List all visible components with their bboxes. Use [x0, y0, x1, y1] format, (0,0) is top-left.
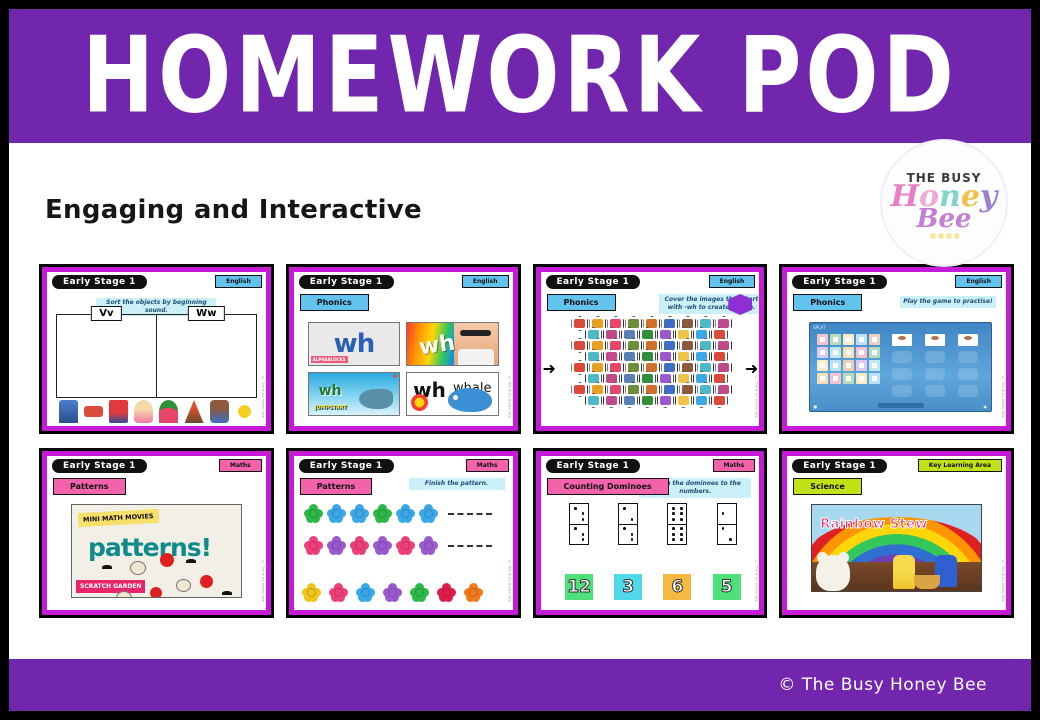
- domino-dot: [631, 518, 634, 521]
- domino-half: [570, 504, 588, 524]
- domino-dot: [672, 518, 675, 521]
- patterns-video-thumbnail[interactable]: MINI MATH MOVIES patterns! SCRATCH GARDE…: [71, 504, 242, 598]
- game-image-card[interactable]: [830, 373, 841, 384]
- slide-content-5: Early Stage 1 Maths Patterns MINI MATH M…: [47, 456, 266, 610]
- video-title: patterns!: [88, 533, 211, 562]
- slide-content-1: Early Stage 1 English Sort the objects b…: [47, 272, 266, 426]
- pattern-flower[interactable]: [419, 504, 438, 523]
- whale-icon: [448, 388, 492, 412]
- domino-cell: [631, 533, 634, 536]
- stage-badge: Early Stage 1: [299, 459, 394, 473]
- side-credit: © The Busy Honey Bee: [754, 560, 758, 602]
- game-image-card[interactable]: [856, 347, 867, 358]
- flower-palette-row[interactable]: [302, 583, 483, 602]
- palette-flower[interactable]: [356, 583, 375, 602]
- domino-dot: [672, 507, 675, 510]
- video-brand-tag: ALPHABLOCKS: [311, 356, 348, 363]
- game-image-card[interactable]: [830, 347, 841, 358]
- game-progress-bar[interactable]: [878, 403, 924, 408]
- game-empty-slot[interactable]: [925, 351, 945, 363]
- flower-centre: [309, 509, 318, 518]
- slide-thumbnail-7[interactable]: Early Stage 1 Maths Counting Dominoes Ma…: [533, 448, 768, 618]
- game-empty-slot[interactable]: [925, 385, 945, 397]
- domino-cell: [574, 527, 577, 530]
- honeycomb-icon: [929, 232, 959, 240]
- domino-half: [619, 504, 637, 524]
- slide-content-2: Early Stage 1 English Phonics wh ALPHABL…: [294, 272, 513, 426]
- game-image-card[interactable]: [856, 334, 867, 345]
- game-image-card[interactable]: [830, 360, 841, 371]
- page-title: HOMEWORK POD: [82, 24, 958, 129]
- domino-cell: [672, 527, 675, 530]
- game-image-card[interactable]: [843, 373, 854, 384]
- game-empty-slot[interactable]: [892, 385, 912, 397]
- palette-flower[interactable]: [302, 583, 321, 602]
- video-thumbnail-1[interactable]: wh ALPHABLOCKS: [308, 322, 400, 366]
- video-label-wh: wh: [334, 329, 375, 359]
- topic-tag-phonics: Phonics: [793, 294, 862, 311]
- doodle-moustache-icon: [186, 559, 196, 563]
- stage-badge: Early Stage 1: [546, 275, 641, 289]
- game-image-card[interactable]: [856, 360, 867, 371]
- palette-flower[interactable]: [410, 583, 429, 602]
- domino-half: [570, 524, 588, 545]
- doodle-moustache-icon: [102, 565, 112, 569]
- slide-thumbnail-5[interactable]: Early Stage 1 Maths Patterns MINI MATH M…: [39, 448, 274, 618]
- domino-dot: [680, 527, 683, 530]
- flower-centre: [415, 588, 424, 597]
- domino-dot: [582, 512, 585, 515]
- object-wand-icon[interactable]: [235, 400, 254, 423]
- domino-cell: [672, 518, 675, 521]
- pattern-answer-blank[interactable]: [448, 512, 492, 515]
- domino-half: [619, 524, 637, 545]
- brand-logo: THE BUSY Honey Bee: [882, 141, 1006, 265]
- domino-cell: [582, 533, 585, 536]
- domino-cell: [631, 538, 634, 541]
- domino-cell: [680, 538, 683, 541]
- domino-cell: [722, 512, 725, 515]
- doodle-sheep-icon: [130, 561, 146, 575]
- doodle-face-icon: [160, 553, 174, 567]
- kla-tag: English: [709, 275, 756, 288]
- domino-tile[interactable]: [618, 503, 638, 545]
- number-tile[interactable]: 3: [614, 574, 642, 600]
- domino-cell: [631, 518, 634, 521]
- side-credit: © The Busy Honey Bee: [754, 376, 758, 418]
- pattern-flower[interactable]: [396, 504, 415, 523]
- topic-tag-phonics: Phonics: [300, 294, 369, 311]
- object-volcano-icon[interactable]: [185, 400, 204, 423]
- kla-tag: English: [955, 275, 1002, 288]
- doodle-sheep-icon: [116, 591, 132, 598]
- object-picture-row: [56, 398, 257, 423]
- section-subtitle: Engaging and Interactive: [45, 195, 422, 225]
- child-character-1-icon: [893, 555, 915, 589]
- sort-column-v[interactable]: Vv: [56, 314, 157, 398]
- game-card-tray[interactable]: [817, 334, 880, 384]
- slides-grid: Early Stage 1 English Sort the objects b…: [39, 264, 1014, 618]
- pattern-flower[interactable]: [327, 536, 346, 555]
- domino-half: [668, 524, 686, 545]
- sort-column-w[interactable]: Ww: [157, 314, 257, 398]
- flower-centre: [307, 588, 316, 597]
- sort-label-vv: Vv: [91, 306, 121, 321]
- number-tile[interactable]: 5: [713, 574, 741, 600]
- pattern-flower[interactable]: [350, 536, 369, 555]
- palette-flower[interactable]: [464, 583, 483, 602]
- domino-dot: [582, 538, 585, 541]
- stage-badge: Early Stage 1: [52, 275, 147, 289]
- sorting-area: Vv Ww: [56, 314, 257, 398]
- stage-badge: Early Stage 1: [792, 275, 887, 289]
- side-credit: © The Busy Honey Bee: [1001, 560, 1005, 602]
- topic-tag-science: Science: [793, 478, 862, 495]
- pattern-row-2[interactable]: [304, 536, 492, 555]
- vegetable-basket-icon: [914, 575, 940, 589]
- domino-dot: [680, 512, 683, 515]
- side-credit: © The Busy Honey Bee: [261, 376, 265, 418]
- object-van-icon[interactable]: [109, 400, 128, 423]
- slide-thumbnail-3[interactable]: Early Stage 1 English Phonics Cover the …: [533, 264, 768, 434]
- domino-dot: [672, 538, 675, 541]
- slide-content-6: Early Stage 1 Maths Patterns Finish the …: [294, 456, 513, 610]
- object-watch-icon[interactable]: [84, 406, 103, 417]
- pattern-flower[interactable]: [419, 536, 438, 555]
- topic-tag-counting-dominoes: Counting Dominoes: [547, 478, 669, 495]
- page-footer: © The Busy Honey Bee: [9, 659, 1031, 711]
- domino-cell: [680, 527, 683, 530]
- flower-centre: [401, 541, 410, 550]
- video-thumbnail-3[interactable]: wh JUMPSTART: [308, 372, 400, 416]
- domino-dot: [582, 533, 585, 536]
- side-credit: © The Busy Honey Bee: [508, 560, 512, 602]
- stage-badge: Early Stage 1: [546, 459, 641, 473]
- domino-cell: [582, 512, 585, 515]
- slide-content-7: Early Stage 1 Maths Counting Dominoes Ma…: [541, 456, 760, 610]
- flower-centre: [424, 509, 433, 518]
- domino-cell: [672, 533, 675, 536]
- object-witch-icon[interactable]: [134, 400, 153, 423]
- game-empty-slot[interactable]: [991, 385, 992, 397]
- doodle-face-icon: [200, 575, 213, 588]
- domino-cell: [672, 507, 675, 510]
- hexagon-row: [564, 393, 750, 408]
- domino-dot: [623, 527, 626, 530]
- domino-dot: [672, 533, 675, 536]
- pattern-flower[interactable]: [373, 536, 392, 555]
- kla-tag: Maths: [713, 459, 756, 472]
- kla-tag: English: [215, 275, 262, 288]
- bear-character-icon: [816, 555, 850, 591]
- pattern-flower[interactable]: [373, 504, 392, 523]
- kla-tag: English: [462, 275, 509, 288]
- palette-flower[interactable]: [437, 583, 456, 602]
- logo-letter-y: y: [980, 179, 997, 214]
- domino-cell: [680, 507, 683, 510]
- game-image-card[interactable]: [817, 334, 828, 345]
- flower-centre: [442, 588, 451, 597]
- video-thumbnail-4[interactable]: wh whale: [406, 372, 498, 416]
- domino-cell: [722, 527, 725, 530]
- domino-cell: [680, 512, 683, 515]
- domino-dot: [680, 533, 683, 536]
- slide-thumbnail-6[interactable]: Early Stage 1 Maths Patterns Finish the …: [286, 448, 521, 618]
- video-thumbnail-2[interactable]: wh: [406, 322, 498, 366]
- game-image-card[interactable]: [856, 373, 867, 384]
- page-header: HOMEWORK POD: [9, 9, 1031, 143]
- palette-flower[interactable]: [383, 583, 402, 602]
- game-image-card[interactable]: [843, 360, 854, 371]
- flower-centre: [378, 541, 387, 550]
- number-tile-row: 12365: [555, 572, 752, 602]
- stage-badge: Early Stage 1: [299, 275, 394, 289]
- game-fullscreen-icon[interactable]: ▣: [983, 404, 987, 409]
- object-vet-icon[interactable]: [210, 400, 229, 423]
- domino-dot: [582, 518, 585, 521]
- hexagon-path-grid[interactable]: [555, 316, 750, 420]
- domino-cell: [623, 507, 626, 510]
- game-player-avatar[interactable]: [892, 334, 912, 346]
- flower-centre: [424, 541, 433, 550]
- book-cover-thumbnail[interactable]: Rainbow Stew: [811, 504, 982, 592]
- domino-dot: [631, 533, 634, 536]
- game-image-card[interactable]: [869, 347, 880, 358]
- game-image-card[interactable]: [817, 347, 828, 358]
- flower-centre: [355, 509, 364, 518]
- game-empty-slot[interactable]: [958, 385, 978, 397]
- pattern-flower[interactable]: [396, 536, 415, 555]
- footer-copyright: © The Busy Honey Bee: [778, 675, 987, 695]
- stage-badge: Early Stage 1: [792, 459, 887, 473]
- pattern-flower[interactable]: [350, 504, 369, 523]
- object-watermelon-icon[interactable]: [159, 400, 178, 423]
- game-player-avatar[interactable]: [958, 334, 978, 346]
- domino-dot: [722, 512, 725, 515]
- pattern-flower[interactable]: [304, 536, 323, 555]
- slide-thumbnail-1[interactable]: Early Stage 1 English Sort the objects b…: [39, 264, 274, 434]
- number-tile[interactable]: 6: [663, 574, 691, 600]
- domino-dot: [623, 507, 626, 510]
- interactive-game-board[interactable]: SPLAT ■ ▣: [809, 322, 992, 412]
- pattern-answer-blank[interactable]: [448, 544, 492, 547]
- game-image-card[interactable]: [843, 334, 854, 345]
- domino-dot: [680, 538, 683, 541]
- object-vacuum-icon[interactable]: [59, 400, 78, 423]
- domino-dot: [672, 512, 675, 515]
- doodle-moustache-icon: [222, 591, 232, 595]
- domino-dot: [574, 527, 577, 530]
- pattern-row-1[interactable]: [304, 504, 492, 523]
- flower-centre: [469, 588, 478, 597]
- domino-dot: [729, 538, 732, 541]
- game-empty-slot[interactable]: [991, 368, 992, 380]
- channel-logo-icon: [411, 394, 428, 411]
- game-image-card[interactable]: [869, 373, 880, 384]
- game-image-card[interactable]: [817, 373, 828, 384]
- slide-thumbnail-4[interactable]: Early Stage 1 English Phonics Play the g…: [779, 264, 1014, 434]
- domino-cell: [623, 527, 626, 530]
- game-empty-slot[interactable]: [958, 368, 978, 380]
- game-image-card[interactable]: [843, 347, 854, 358]
- game-empty-slot[interactable]: [892, 368, 912, 380]
- game-image-card[interactable]: [830, 334, 841, 345]
- domino-dot: [680, 518, 683, 521]
- logo-bee-word: Bee: [916, 208, 971, 230]
- domino-dot: [631, 538, 634, 541]
- video-label-wh: wh: [319, 383, 342, 399]
- book-title: Rainbow Stew: [820, 517, 927, 532]
- domino-dot: [574, 507, 577, 510]
- doodle-face-icon: [150, 587, 162, 598]
- domino-row: [555, 502, 752, 546]
- slide-content-3: Early Stage 1 English Phonics Cover the …: [541, 272, 760, 426]
- game-home-icon[interactable]: ■: [813, 404, 817, 409]
- number-tile[interactable]: 12: [565, 574, 593, 600]
- slide-thumbnail-2[interactable]: Early Stage 1 English Phonics wh ALPHABL…: [286, 264, 521, 434]
- video-grid: wh ALPHABLOCKS wh wh JUMPSTART wh: [308, 322, 499, 416]
- flower-centre: [361, 588, 370, 597]
- domino-cell: [680, 533, 683, 536]
- topic-tag-phonics: Phonics: [547, 294, 616, 311]
- video-brand-tag: JUMPSTART: [315, 405, 347, 411]
- domino-half: [718, 504, 736, 524]
- pattern-flower[interactable]: [327, 504, 346, 523]
- topic-tag-patterns: Patterns: [300, 478, 373, 495]
- slide-content-8: Early Stage 1 Key Learning Area Science …: [787, 456, 1006, 610]
- kla-tag: Key Learning Area: [918, 459, 1002, 472]
- shark-icon: [359, 389, 393, 409]
- domino-cell: [582, 538, 585, 541]
- homework-pod-page: HOMEWORK POD THE BUSY Honey Bee Engaging…: [0, 0, 1040, 720]
- game-empty-slot[interactable]: [892, 351, 912, 363]
- kla-tag: Maths: [466, 459, 509, 472]
- video-badge: [393, 375, 397, 377]
- palette-flower[interactable]: [329, 583, 348, 602]
- stage-badge: Early Stage 1: [52, 459, 147, 473]
- game-board-label: SPLAT: [813, 325, 825, 330]
- flower-centre: [332, 541, 341, 550]
- sort-label-ww: Ww: [188, 306, 224, 321]
- kla-tag: Maths: [219, 459, 262, 472]
- flower-centre: [332, 509, 341, 518]
- domino-dot: [672, 527, 675, 530]
- domino-cell: [672, 538, 675, 541]
- flower-centre: [401, 509, 410, 518]
- game-empty-slot[interactable]: [958, 351, 978, 363]
- flower-centre: [388, 588, 397, 597]
- domino-cell: [582, 518, 585, 521]
- flower-centre: [378, 509, 387, 518]
- game-image-card[interactable]: [869, 360, 880, 371]
- domino-cell: [672, 512, 675, 515]
- domino-cell: [729, 538, 732, 541]
- slide-instruction: Finish the pattern.: [409, 478, 505, 490]
- domino-tile[interactable]: [667, 503, 687, 545]
- logo-letter-h: H: [891, 179, 919, 214]
- flower-centre: [355, 541, 364, 550]
- video-label-wh: wh: [418, 331, 457, 361]
- game-empty-slot[interactable]: [991, 351, 992, 363]
- domino-cell: [574, 507, 577, 510]
- domino-dot: [680, 507, 683, 510]
- domino-cell: [680, 518, 683, 521]
- game-player-avatar[interactable]: [925, 334, 945, 346]
- domino-dot: [722, 527, 725, 530]
- game-image-card[interactable]: [869, 334, 880, 345]
- pattern-flower[interactable]: [304, 504, 323, 523]
- video-series-label: MINI MATH MOVIES: [78, 509, 159, 527]
- side-credit: © The Busy Honey Bee: [1001, 376, 1005, 418]
- video-channel-label: SCRATCH GARDEN: [76, 580, 145, 593]
- slide-instruction: Play the game to practise!: [900, 296, 996, 308]
- side-credit: © The Busy Honey Bee: [261, 560, 265, 602]
- slide-content-4: Early Stage 1 English Phonics Play the g…: [787, 272, 1006, 426]
- domino-tile[interactable]: [717, 503, 737, 545]
- game-slot-grid[interactable]: [892, 334, 992, 397]
- game-player-avatar[interactable]: [991, 334, 992, 346]
- side-credit: © The Busy Honey Bee: [508, 376, 512, 418]
- slide-thumbnail-8[interactable]: Early Stage 1 Key Learning Area Science …: [779, 448, 1014, 618]
- domino-half: [718, 524, 736, 545]
- flower-centre: [309, 541, 318, 550]
- presenter-photo: [454, 323, 497, 365]
- game-empty-slot[interactable]: [925, 368, 945, 380]
- domino-tile[interactable]: [569, 503, 589, 545]
- doodle-sheep-icon: [176, 579, 191, 592]
- topic-tag-patterns: Patterns: [53, 478, 126, 495]
- flower-centre: [334, 588, 343, 597]
- domino-half: [668, 504, 686, 524]
- game-image-card[interactable]: [817, 360, 828, 371]
